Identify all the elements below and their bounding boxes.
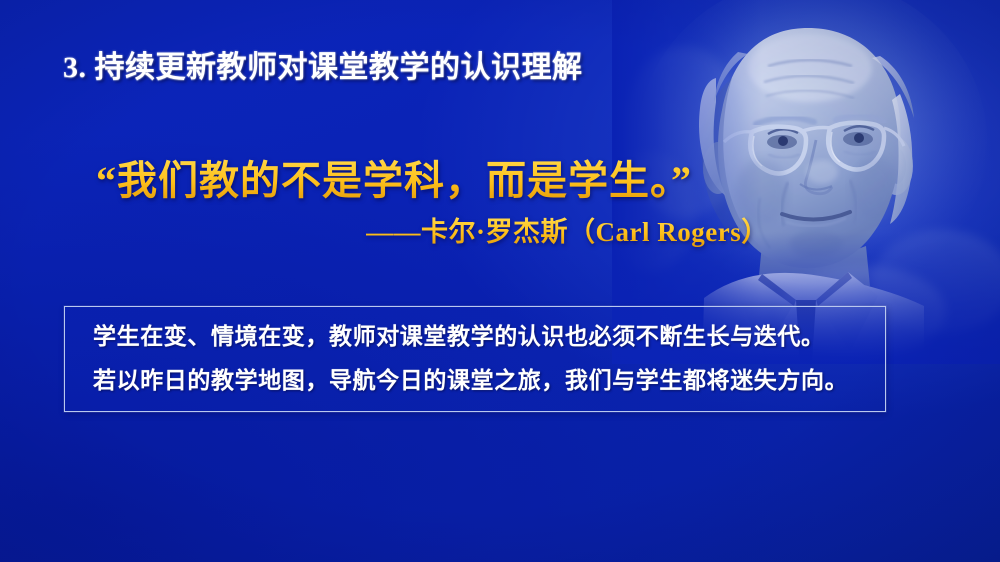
- statement-box: 学生在变、情境在变，教师对课堂教学的认识也必须不断生长与迭代。 若以昨日的教学地…: [64, 306, 886, 412]
- statement-line-1: 学生在变、情境在变，教师对课堂教学的认识也必须不断生长与迭代。: [93, 315, 863, 359]
- presentation-slide: 3. 持续更新教师对课堂教学的认识理解 “我们教的不是学科，而是学生。” ——卡…: [0, 0, 1000, 562]
- quote-attribution: ——卡尔·罗杰斯（Carl Rogers）: [366, 210, 769, 249]
- page-title: 3. 持续更新教师对课堂教学的认识理解: [63, 42, 583, 86]
- statement-line-2: 若以昨日的教学地图，导航今日的课堂之旅，我们与学生都将迷失方向。: [93, 359, 863, 403]
- pull-quote: “我们教的不是学科，而是学生。”: [96, 148, 692, 206]
